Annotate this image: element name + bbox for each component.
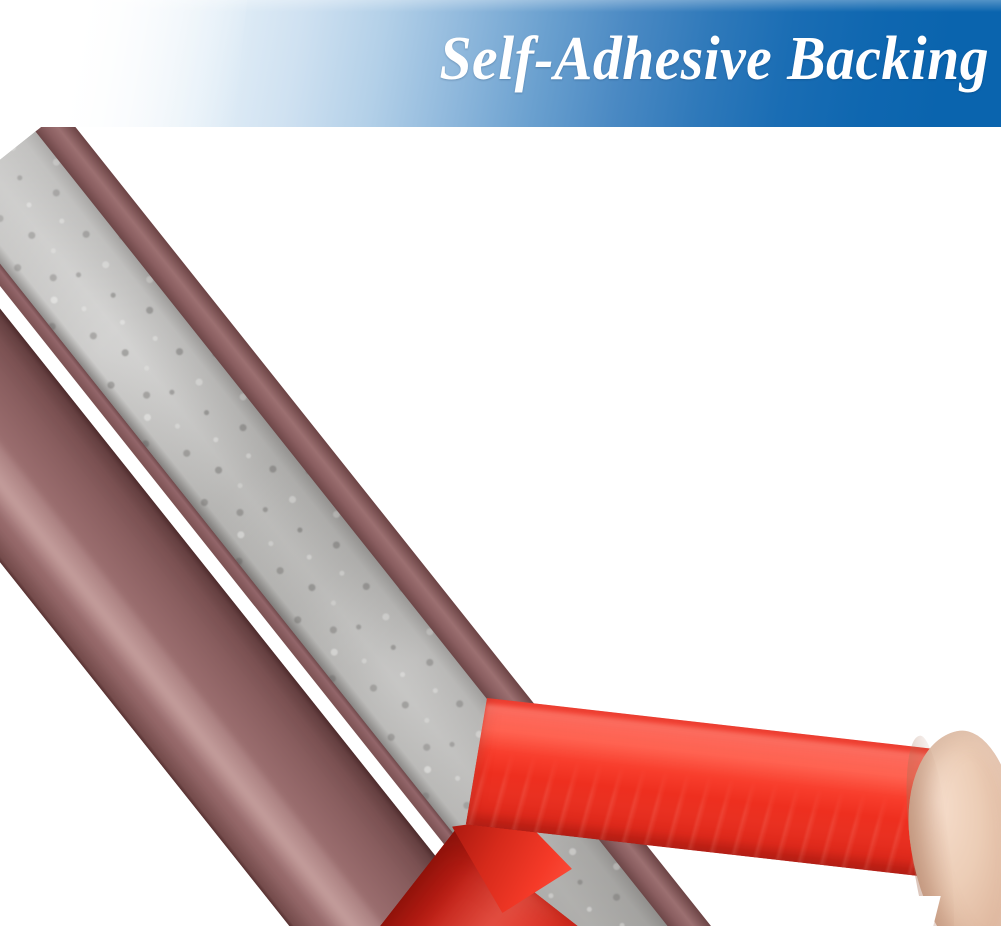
product-photo [0,127,1001,926]
banner-sheen [0,0,1001,12]
background-gap [887,896,940,926]
product-feature-image: Self-Adhesive Backing The flexible floor… [0,0,1001,926]
page-title: Self-Adhesive Backing [96,16,989,102]
header-banner: Self-Adhesive Backing [0,0,1001,127]
